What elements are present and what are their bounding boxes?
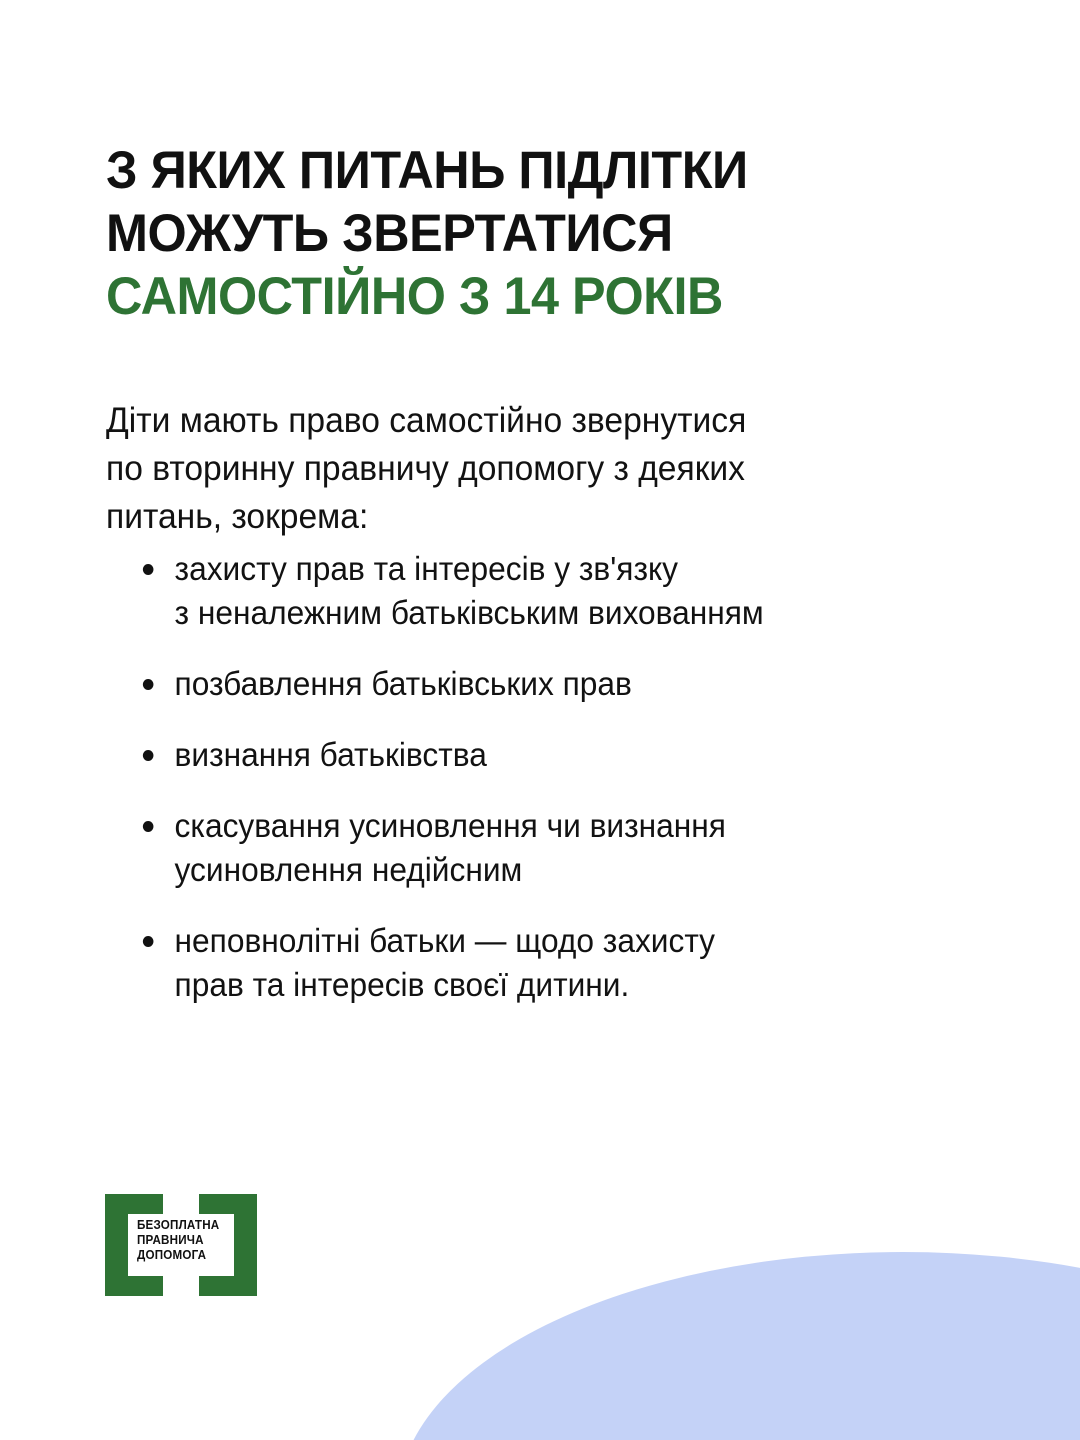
- title-line-3-accent: САМОСТІЙНО З 14 РОКІВ: [106, 265, 942, 328]
- intro-line-1: Діти мають право самостійно звернутися: [106, 397, 941, 445]
- list-item-line-1: захисту прав та інтересів у зв'язку: [175, 547, 1004, 591]
- list-item: скасування усиновлення чи визнання усино…: [140, 804, 1004, 892]
- logo-wordmark: БЕЗОПЛАТНА ПРАВНИЧА ДОПОМОГА: [137, 1218, 223, 1263]
- logo-line-2: ПРАВНИЧА: [137, 1233, 223, 1248]
- page-title: З ЯКИХ ПИТАНЬ ПІДЛІТКИ МОЖУТЬ ЗВЕРТАТИСЯ…: [106, 139, 942, 328]
- bullet-dot-icon: [143, 936, 154, 947]
- intro-line-3: питань, зокрема:: [106, 493, 941, 541]
- list-item: визнання батьківства: [140, 733, 1004, 777]
- list-item-line-2: прав та інтересів своєї дитини.: [175, 963, 1004, 1007]
- bullet-dot-icon: [143, 821, 154, 832]
- bullet-dot-icon: [143, 564, 154, 575]
- bullet-dot-icon: [143, 679, 154, 690]
- bullet-dot-icon: [143, 750, 154, 761]
- title-line-1: З ЯКИХ ПИТАНЬ ПІДЛІТКИ: [106, 139, 942, 202]
- list-item-line-2: усиновлення недійсним: [175, 848, 1004, 892]
- list-item-line-1: визнання батьківства: [175, 733, 1004, 777]
- list-item: неповнолітні батьки — щодо захисту прав …: [140, 919, 1004, 1007]
- intro-paragraph: Діти мають право самостійно звернутися п…: [106, 397, 941, 541]
- list-item-line-2: з неналежним батьківським вихованням: [175, 591, 1004, 635]
- logo-line-1: БЕЗОПЛАТНА: [137, 1218, 223, 1233]
- list-item: захисту прав та інтересів у зв'язку з не…: [140, 547, 1004, 635]
- list-item-line-1: неповнолітні батьки — щодо захисту: [175, 919, 1004, 963]
- logo-line-3: ДОПОМОГА: [137, 1248, 223, 1263]
- list-item: позбавлення батьківських прав: [140, 662, 1004, 706]
- infographic-canvas: З ЯКИХ ПИТАНЬ ПІДЛІТКИ МОЖУТЬ ЗВЕРТАТИСЯ…: [0, 0, 1080, 1440]
- content-area: З ЯКИХ ПИТАНЬ ПІДЛІТКИ МОЖУТЬ ЗВЕРТАТИСЯ…: [0, 0, 1080, 1440]
- title-line-2: МОЖУТЬ ЗВЕРТАТИСЯ: [106, 202, 942, 265]
- legal-aid-logo: БЕЗОПЛАТНА ПРАВНИЧА ДОПОМОГА: [105, 1194, 257, 1296]
- list-item-line-1: позбавлення батьківських прав: [175, 662, 1004, 706]
- list-item-line-1: скасування усиновлення чи визнання: [175, 804, 1004, 848]
- topics-list: захисту прав та інтересів у зв'язку з не…: [140, 547, 1040, 1007]
- intro-line-2: по вторинну правничу допомогу з деяких: [106, 445, 941, 493]
